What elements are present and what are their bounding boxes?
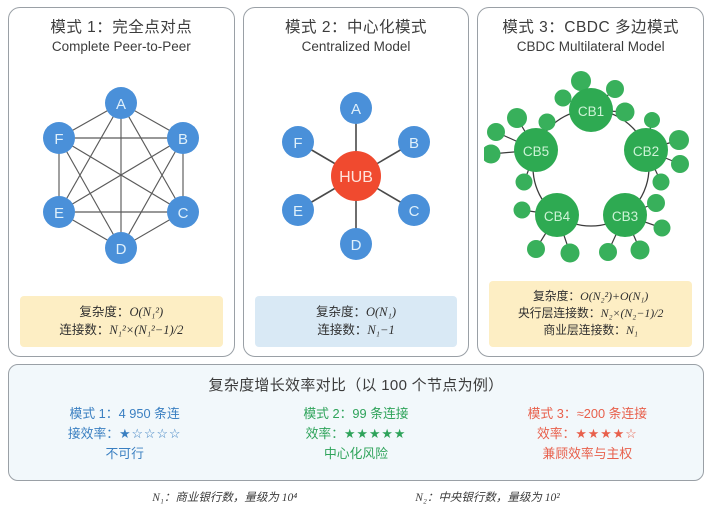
comparison-mode2-efficiency: 效率：★★★★★ xyxy=(240,424,471,444)
comparison-mode3-connections: 模式 3：≈200 条连接 xyxy=(472,404,703,424)
cb-label-cb3: CB3 xyxy=(612,209,638,224)
panel-1-complexity-label: 复杂度： xyxy=(79,305,129,319)
panel-2-connections-label: 连接数： xyxy=(317,323,367,337)
comparison-mode1-verdict: 不可行 xyxy=(9,444,240,464)
panel-1-complexity-value: O(N₁²) xyxy=(129,305,163,319)
panel-2-connections-value: N₁−1 xyxy=(367,323,394,337)
panel-3-commercial-connections-label: 商业层连接数： xyxy=(543,323,626,337)
footnote-n1: N₁：商业银行数，量级为 10⁴ xyxy=(152,489,297,505)
comparison-mode2-verdict: 中心化风险 xyxy=(240,444,471,464)
footnote-n2: N₂：中央银行数，量级为 10² xyxy=(415,489,560,505)
cb-label-cb2: CB2 xyxy=(633,144,659,159)
cb-label-cb4: CB4 xyxy=(544,209,571,224)
panel-2-formula-box: 复杂度：O(N₁) 连接数：N₁−1 xyxy=(255,296,458,347)
comparison-heading: 复杂度增长效率对比（以 100 个节点为例） xyxy=(9,374,703,395)
cbdc-hub-nodes: CB1 CB2 CB3 CB4 CB5 xyxy=(514,88,668,237)
comparison-mode1-stars: ★☆☆☆☆ xyxy=(119,426,181,441)
panels-row: 模式 1：完全点对点 Complete Peer-to-Peer xyxy=(8,7,704,357)
hub-node-label-c: C xyxy=(409,203,420,220)
comparison-mode2-stars: ★★★★★ xyxy=(344,426,406,441)
panel-3-commercial-connections-value: N₁ xyxy=(626,323,638,337)
panel-3-complexity-row: 复杂度：O(N₂²)+O(N₁) xyxy=(493,288,688,305)
panel-3-title-en: CBDC Multilateral Model xyxy=(517,39,665,55)
panel-3-cb-connections-label: 央行层连接数： xyxy=(518,306,601,320)
panel-1-connections-label: 连接数： xyxy=(59,323,109,337)
node-label-a: A xyxy=(116,96,126,113)
comparison-mode1-efficiency: 接效率：★☆☆☆☆ xyxy=(9,424,240,444)
panel-1-title-cn: 模式 1：完全点对点 xyxy=(50,18,192,37)
comparison-mode3-efficiency: 效率：★★★★☆ xyxy=(472,424,703,444)
panel-centralized: 模式 2：中心化模式 Centralized Model A xyxy=(243,7,470,357)
panel-3-figure: CB1 CB2 CB3 CB4 CB5 xyxy=(478,56,703,281)
hub-spoke-svg: A B C D E F HUB xyxy=(256,81,456,271)
panel-1-complexity-row: 复杂度：O(N₁²) xyxy=(24,303,219,321)
complete-graph-svg: A B C D E F xyxy=(21,81,221,271)
comparison-mode3-stars: ★★★★☆ xyxy=(575,426,637,441)
node-label-d: D xyxy=(116,241,127,258)
panel-3-complexity-value: O(N₂²)+O(N₁) xyxy=(580,289,648,303)
hub-node-label-d: D xyxy=(351,237,362,254)
panel-1-title-en: Complete Peer-to-Peer xyxy=(52,39,191,55)
comparison-mode2-connections: 模式 2：99 条连接 xyxy=(240,404,471,424)
panel-1-figure: A B C D E F xyxy=(9,56,234,296)
panel-peer-to-peer: 模式 1：完全点对点 Complete Peer-to-Peer xyxy=(8,7,235,357)
hub-node-label-a: A xyxy=(351,101,361,118)
panel-3-formula-box: 复杂度：O(N₂²)+O(N₁) 央行层连接数：N₂×(N₂−1)/2 商业层连… xyxy=(489,281,692,347)
panel-2-figure: A B C D E F HUB xyxy=(244,56,469,296)
cbdc-ring-svg: CB1 CB2 CB3 CB4 CB5 xyxy=(484,70,698,266)
comparison-mode3-verdict: 兼顾效率与主权 xyxy=(472,444,703,464)
hub-node-label-b: B xyxy=(409,135,419,152)
comparison-column-mode1: 模式 1：4 950 条连 接效率：★☆☆☆☆ 不可行 xyxy=(9,404,240,463)
diagram-root: 模式 1：完全点对点 Complete Peer-to-Peer xyxy=(0,0,712,517)
panel-1-connections-row: 连接数：N₁²×(N₁²−1)/2 xyxy=(24,321,219,339)
comparison-column-mode3: 模式 3：≈200 条连接 效率：★★★★☆ 兼顾效率与主权 xyxy=(472,404,703,463)
panel-3-title-cn: 模式 3：CBDC 多边模式 xyxy=(502,18,679,37)
comparison-mode1-efficiency-label: 接效率： xyxy=(68,426,119,441)
comparison-mode3-efficiency-label: 效率： xyxy=(537,426,575,441)
panel-2-title-en: Centralized Model xyxy=(302,39,411,55)
panel-2-complexity-label: 复杂度： xyxy=(316,305,366,319)
panel-2-complexity-value: O(N₁) xyxy=(366,305,396,319)
panel-3-complexity-label: 复杂度： xyxy=(533,289,580,303)
hub-node-label-f: F xyxy=(293,135,302,152)
cb-label-cb5: CB5 xyxy=(523,144,549,159)
node-label-e: E xyxy=(54,205,64,222)
panel-3-cb-connections-value: N₂×(N₂−1)/2 xyxy=(601,306,664,320)
comparison-mode2-efficiency-label: 效率： xyxy=(306,426,344,441)
panel-2-title-cn: 模式 2：中心化模式 xyxy=(285,18,427,37)
panel-2-complexity-row: 复杂度：O(N₁) xyxy=(259,303,454,321)
comparison-box: 复杂度增长效率对比（以 100 个节点为例） 模式 1：4 950 条连 接效率… xyxy=(8,364,704,481)
panel-3-commercial-connections-row: 商业层连接数：N₁ xyxy=(493,322,688,339)
comparison-column-mode2: 模式 2：99 条连接 效率：★★★★★ 中心化风险 xyxy=(240,404,471,463)
comparison-mode1-connections: 模式 1：4 950 条连 xyxy=(9,404,240,424)
panel-2-connections-row: 连接数：N₁−1 xyxy=(259,321,454,339)
comparison-columns: 模式 1：4 950 条连 接效率：★☆☆☆☆ 不可行 模式 2：99 条连接 … xyxy=(9,404,703,463)
node-label-b: B xyxy=(178,131,188,148)
node-label-c: C xyxy=(178,205,189,222)
panel-3-cb-connections-row: 央行层连接数：N₂×(N₂−1)/2 xyxy=(493,305,688,322)
panel-1-formula-box: 复杂度：O(N₁²) 连接数：N₁²×(N₁²−1)/2 xyxy=(20,296,223,347)
panel-1-connections-value: N₁²×(N₁²−1)/2 xyxy=(109,323,183,337)
hub-node-label-e: E xyxy=(293,203,303,220)
graph-edges xyxy=(59,103,183,248)
panel-cbdc-multilateral: 模式 3：CBDC 多边模式 CBDC Multilateral Model xyxy=(477,7,704,357)
cb-label-cb1: CB1 xyxy=(578,104,604,119)
hub-label: HUB xyxy=(339,169,373,186)
footnotes: N₁：商业银行数，量级为 10⁴ N₂：中央银行数，量级为 10² xyxy=(0,489,712,505)
node-label-f: F xyxy=(55,131,64,148)
